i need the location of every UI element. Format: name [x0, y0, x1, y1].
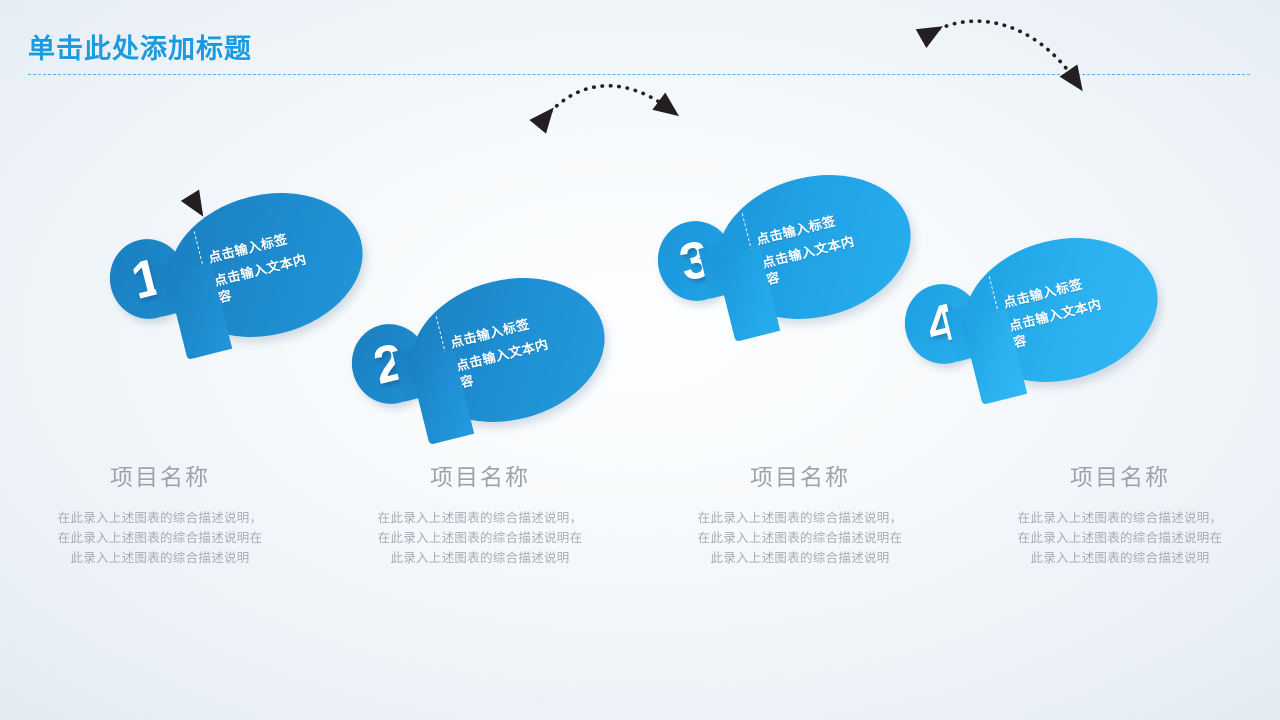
caption-body-1: 在此录入上述图表的综合描述说明，在此录入上述图表的综合描述说明在此录入上述图表的…: [53, 508, 268, 568]
step-body-2: 点击输入标签 点击输入文本内容: [396, 258, 620, 441]
caption-body-2: 在此录入上述图表的综合描述说明，在此录入上述图表的综合描述说明在此录入上述图表的…: [373, 508, 588, 568]
caption-body-3: 在此录入上述图表的综合描述说明，在此录入上述图表的综合描述说明在此录入上述图表的…: [693, 508, 908, 568]
caption-body-4: 在此录入上述图表的综合描述说明，在此录入上述图表的综合描述说明在此录入上述图表的…: [1013, 508, 1228, 568]
caption-block-1[interactable]: 项目名称 在此录入上述图表的综合描述说明，在此录入上述图表的综合描述说明在此录入…: [0, 458, 320, 638]
caption-title-2: 项目名称: [334, 458, 626, 492]
caption-block-4[interactable]: 项目名称 在此录入上述图表的综合描述说明，在此录入上述图表的综合描述说明在此录入…: [960, 458, 1280, 638]
caption-title-4: 项目名称: [974, 458, 1266, 492]
connector-3-4: [931, 21, 1075, 80]
caption-row: 项目名称 在此录入上述图表的综合描述说明，在此录入上述图表的综合描述说明在此录入…: [0, 458, 1280, 638]
step-body-3: 点击输入标签 点击输入文本内容: [702, 155, 926, 338]
connector-2-3: [545, 86, 668, 118]
step-body-1: 点击输入标签 点击输入文本内容: [154, 173, 378, 356]
caption-block-3[interactable]: 项目名称 在此录入上述图表的综合描述说明，在此录入上述图表的综合描述说明在此录入…: [640, 458, 960, 638]
process-diagram: 1 点击输入标签 点击输入文本内容 2 点击输入标签 点击输入文本内容 3: [0, 0, 1280, 450]
caption-title-1: 项目名称: [14, 458, 306, 492]
step-body-4: 点击输入标签 点击输入文本内容: [949, 218, 1173, 401]
caption-title-3: 项目名称: [654, 458, 946, 492]
caption-block-2[interactable]: 项目名称 在此录入上述图表的综合描述说明，在此录入上述图表的综合描述说明在此录入…: [320, 458, 640, 638]
